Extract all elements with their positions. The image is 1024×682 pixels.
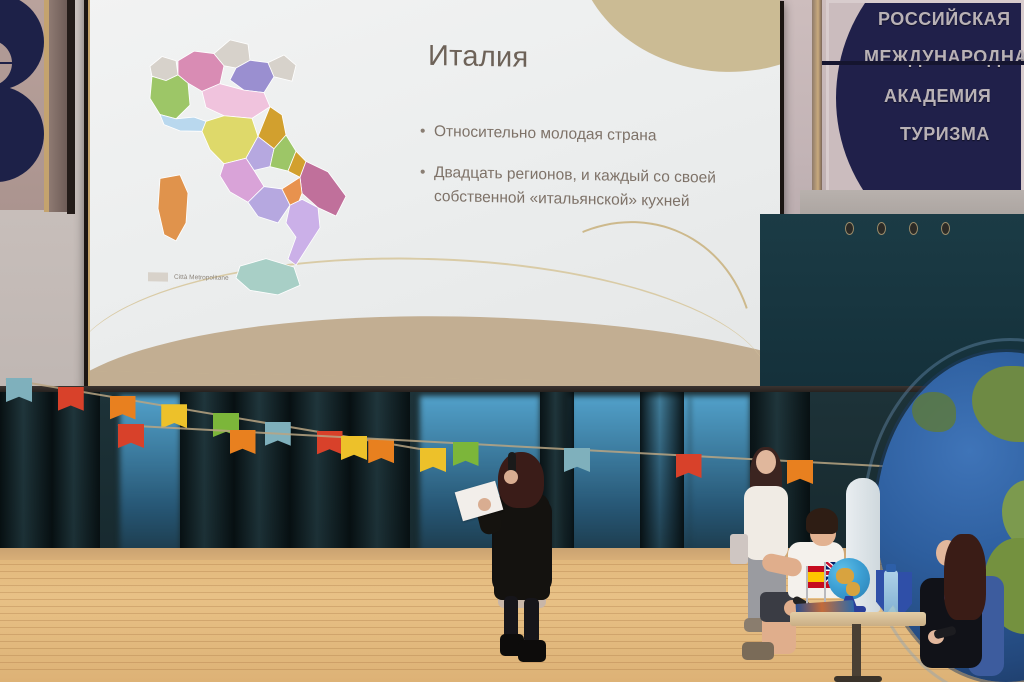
banner-stand (812, 0, 822, 200)
slide-surface: Città Metropolitane Италия • Относительн… (90, 0, 780, 415)
list-item: • Двадцать регионов, и каждый со своей с… (420, 161, 750, 216)
desk-globe (828, 558, 870, 600)
floor-plank (0, 669, 1024, 670)
curtain-eyelet-icon (845, 222, 854, 235)
seated-woman-hair (944, 534, 986, 620)
bullet-marker-icon: • (420, 120, 434, 144)
table-foot (834, 676, 882, 682)
panel-side (49, 0, 67, 212)
academy-banner: РОССИЙСКАЯ МЕЖДУНАРОДНАЯ АКАДЕМИЯ ТУРИЗМ… (826, 0, 1024, 195)
table-leg (852, 624, 861, 682)
standing-woman-bag (730, 534, 748, 564)
seated-man-shoe (742, 642, 774, 660)
standing-woman-face (756, 450, 776, 474)
presenter-leg (524, 598, 539, 644)
presenter-mic-hand (504, 470, 518, 484)
slide-bullet-list: • Относительно молодая страна • Двадцать… (420, 120, 750, 233)
curtain-eyelet-icon (941, 222, 950, 235)
list-item: • Относительно молодая страна (420, 120, 750, 151)
projection-screen: Città Metropolitane Италия • Относительн… (90, 0, 780, 415)
curtain-eyelet-icon (877, 222, 886, 235)
banner-line-1: РОССИЙСКАЯ (878, 9, 1011, 30)
legend-label: Città Metropolitane (174, 274, 229, 282)
earth-landmass (912, 392, 956, 432)
standing-woman-blouse (744, 486, 788, 560)
slide-decoration-top-right (576, 0, 780, 75)
legend-swatch (148, 272, 168, 281)
slide-title: Италия (428, 40, 529, 75)
bullet-text: Относительно молодая страна (434, 120, 656, 148)
presenter-boot (518, 640, 546, 662)
map-legend: Città Metropolitane (148, 272, 229, 283)
banner-line-4: ТУРИЗМА (900, 124, 990, 145)
globe-landmass (846, 582, 860, 596)
bottle-cap (886, 564, 896, 572)
floor-plank (0, 662, 1024, 663)
panel-dark-edge (67, 0, 75, 214)
curtain-eyelet-icon (909, 222, 918, 235)
left-logo-panel (0, 0, 46, 210)
presentation-hall-photo: РОССИЙСКАЯ МЕЖДУНАРОДНАЯ АКАДЕМИЯ ТУРИЗМ… (0, 0, 1024, 682)
emblem-circle-lower-icon (0, 86, 44, 182)
water-bottle (884, 570, 898, 618)
earth-landmass (972, 366, 1024, 442)
bullet-text: Двадцать регионов, и каждый со своей соб… (434, 161, 750, 215)
banner-divider-bar (822, 61, 1024, 65)
emblem-line-icon (0, 62, 20, 64)
presenter-hand (478, 498, 491, 511)
seated-man-hair (806, 508, 838, 534)
bullet-marker-icon: • (420, 161, 434, 209)
banner-line-3: АКАДЕМИЯ (884, 86, 991, 107)
italy-map (132, 8, 382, 313)
